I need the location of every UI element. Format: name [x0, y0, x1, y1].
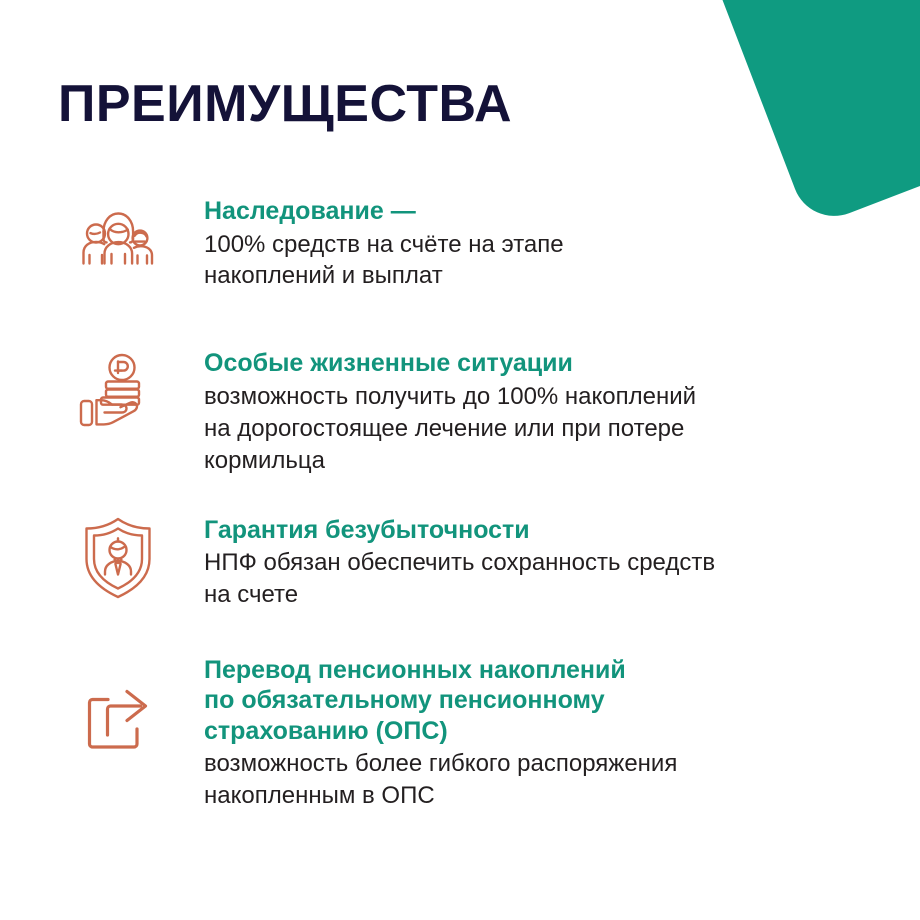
benefit-item: Гарантия безубыточности НПФ обязан обесп…: [0, 511, 920, 611]
benefit-body: 100% средств на счёте на этапе накоплени…: [204, 229, 804, 293]
benefit-heading: Перевод пенсионных накоплений по обязате…: [204, 655, 804, 747]
benefit-body: возможность более гибкого распоряжения н…: [204, 748, 804, 812]
benefits-list: Наследование — 100% средств на счёте на …: [0, 190, 920, 812]
shield-with-person-icon: [72, 511, 164, 607]
benefit-body: НПФ обязан обеспечить сохранность средст…: [204, 547, 804, 611]
benefit-heading: Наследование —: [204, 196, 804, 227]
page-title: ПРЕИМУЩЕСТВА: [58, 77, 512, 132]
benefit-text: Наследование — 100% средств на счёте на …: [164, 190, 804, 292]
benefit-item: Особые жизненные ситуации возможность по…: [0, 344, 920, 476]
benefit-item: Перевод пенсионных накоплений по обязате…: [0, 651, 920, 812]
benefit-text: Гарантия безубыточности НПФ обязан обесп…: [164, 511, 804, 611]
benefit-body: возможность получить до 100% накоплений …: [204, 381, 804, 477]
benefit-heading: Гарантия безубыточности: [204, 515, 804, 546]
benefit-heading: Особые жизненные ситуации: [204, 348, 804, 379]
benefit-item: Наследование — 100% средств на счёте на …: [0, 190, 920, 292]
benefit-text: Перевод пенсионных накоплений по обязате…: [164, 651, 804, 812]
hand-with-ruble-coins-icon: [72, 344, 164, 442]
export-arrow-box-icon: [72, 651, 164, 773]
slide-root: ПРЕИМУЩЕСТВА: [0, 0, 920, 920]
family-group-icon: [72, 190, 164, 282]
benefit-text: Особые жизненные ситуации возможность по…: [164, 344, 804, 476]
